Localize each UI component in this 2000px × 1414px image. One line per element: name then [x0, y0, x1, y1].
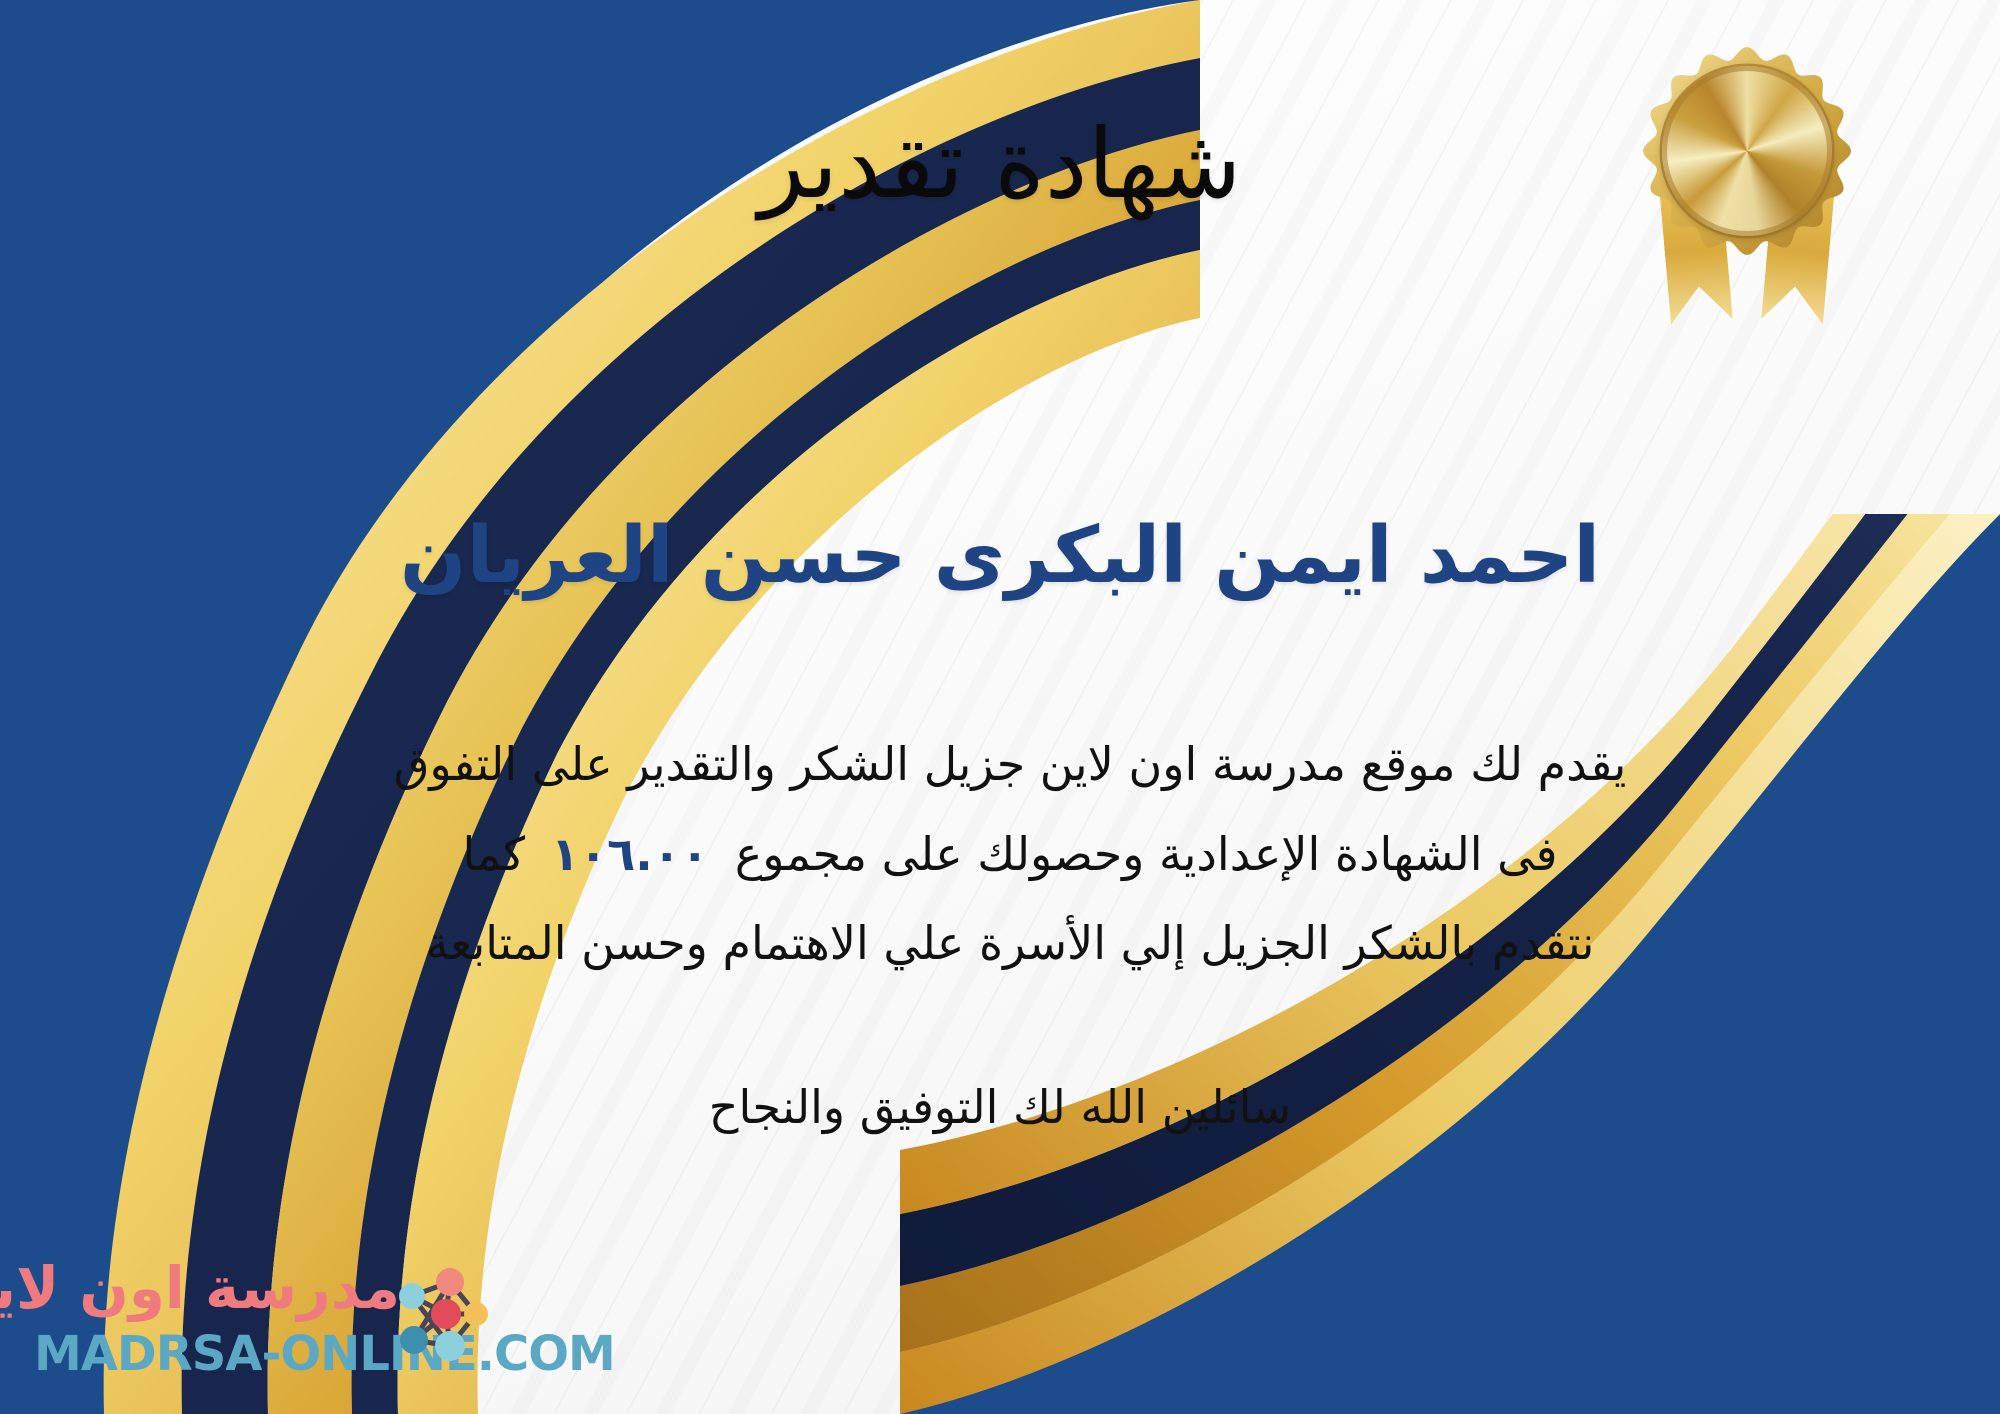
- score-value: ١٠٦.٠٠: [525, 827, 735, 881]
- brand-arabic-name: مدرسة اون لاين: [0, 1254, 400, 1322]
- network-nodes-icon: [388, 1262, 492, 1372]
- body-line-3: نتقدم بالشكر الجزيل إلي الأسرة علي الاهت…: [200, 899, 1820, 989]
- closing-wish: سائلين الله لك التوفيق والنجاح: [0, 1080, 2000, 1134]
- brand-website-url: MADRSA-ONLINE.COM: [34, 1326, 615, 1382]
- body-line-2: فى الشهادة الإعدادية وحصولك على مجموع١٠٦…: [200, 810, 1820, 900]
- certificate-canvas: شهادة تقدير احمد ايمن البكرى حسن العريان…: [0, 0, 2000, 1414]
- certificate-body: يقدم لك موقع مدرسة اون لاين جزيل الشكر و…: [200, 720, 1820, 989]
- brand-logo[interactable]: مدرسة اون لاين MADRSA-ONLINE.COM: [22, 1250, 492, 1390]
- certificate-content: شهادة تقدير احمد ايمن البكرى حسن العريان…: [0, 0, 2000, 1414]
- gold-award-medal-icon: [1632, 36, 1862, 326]
- body-line-2-prefix: فى الشهادة الإعدادية وحصولك على مجموع: [735, 827, 1558, 881]
- body-line-2-suffix: كما: [462, 827, 525, 881]
- body-line-1: يقدم لك موقع مدرسة اون لاين جزيل الشكر و…: [200, 720, 1820, 810]
- medal-face: [1662, 66, 1832, 236]
- recipient-name: احمد ايمن البكرى حسن العريان: [0, 512, 2000, 602]
